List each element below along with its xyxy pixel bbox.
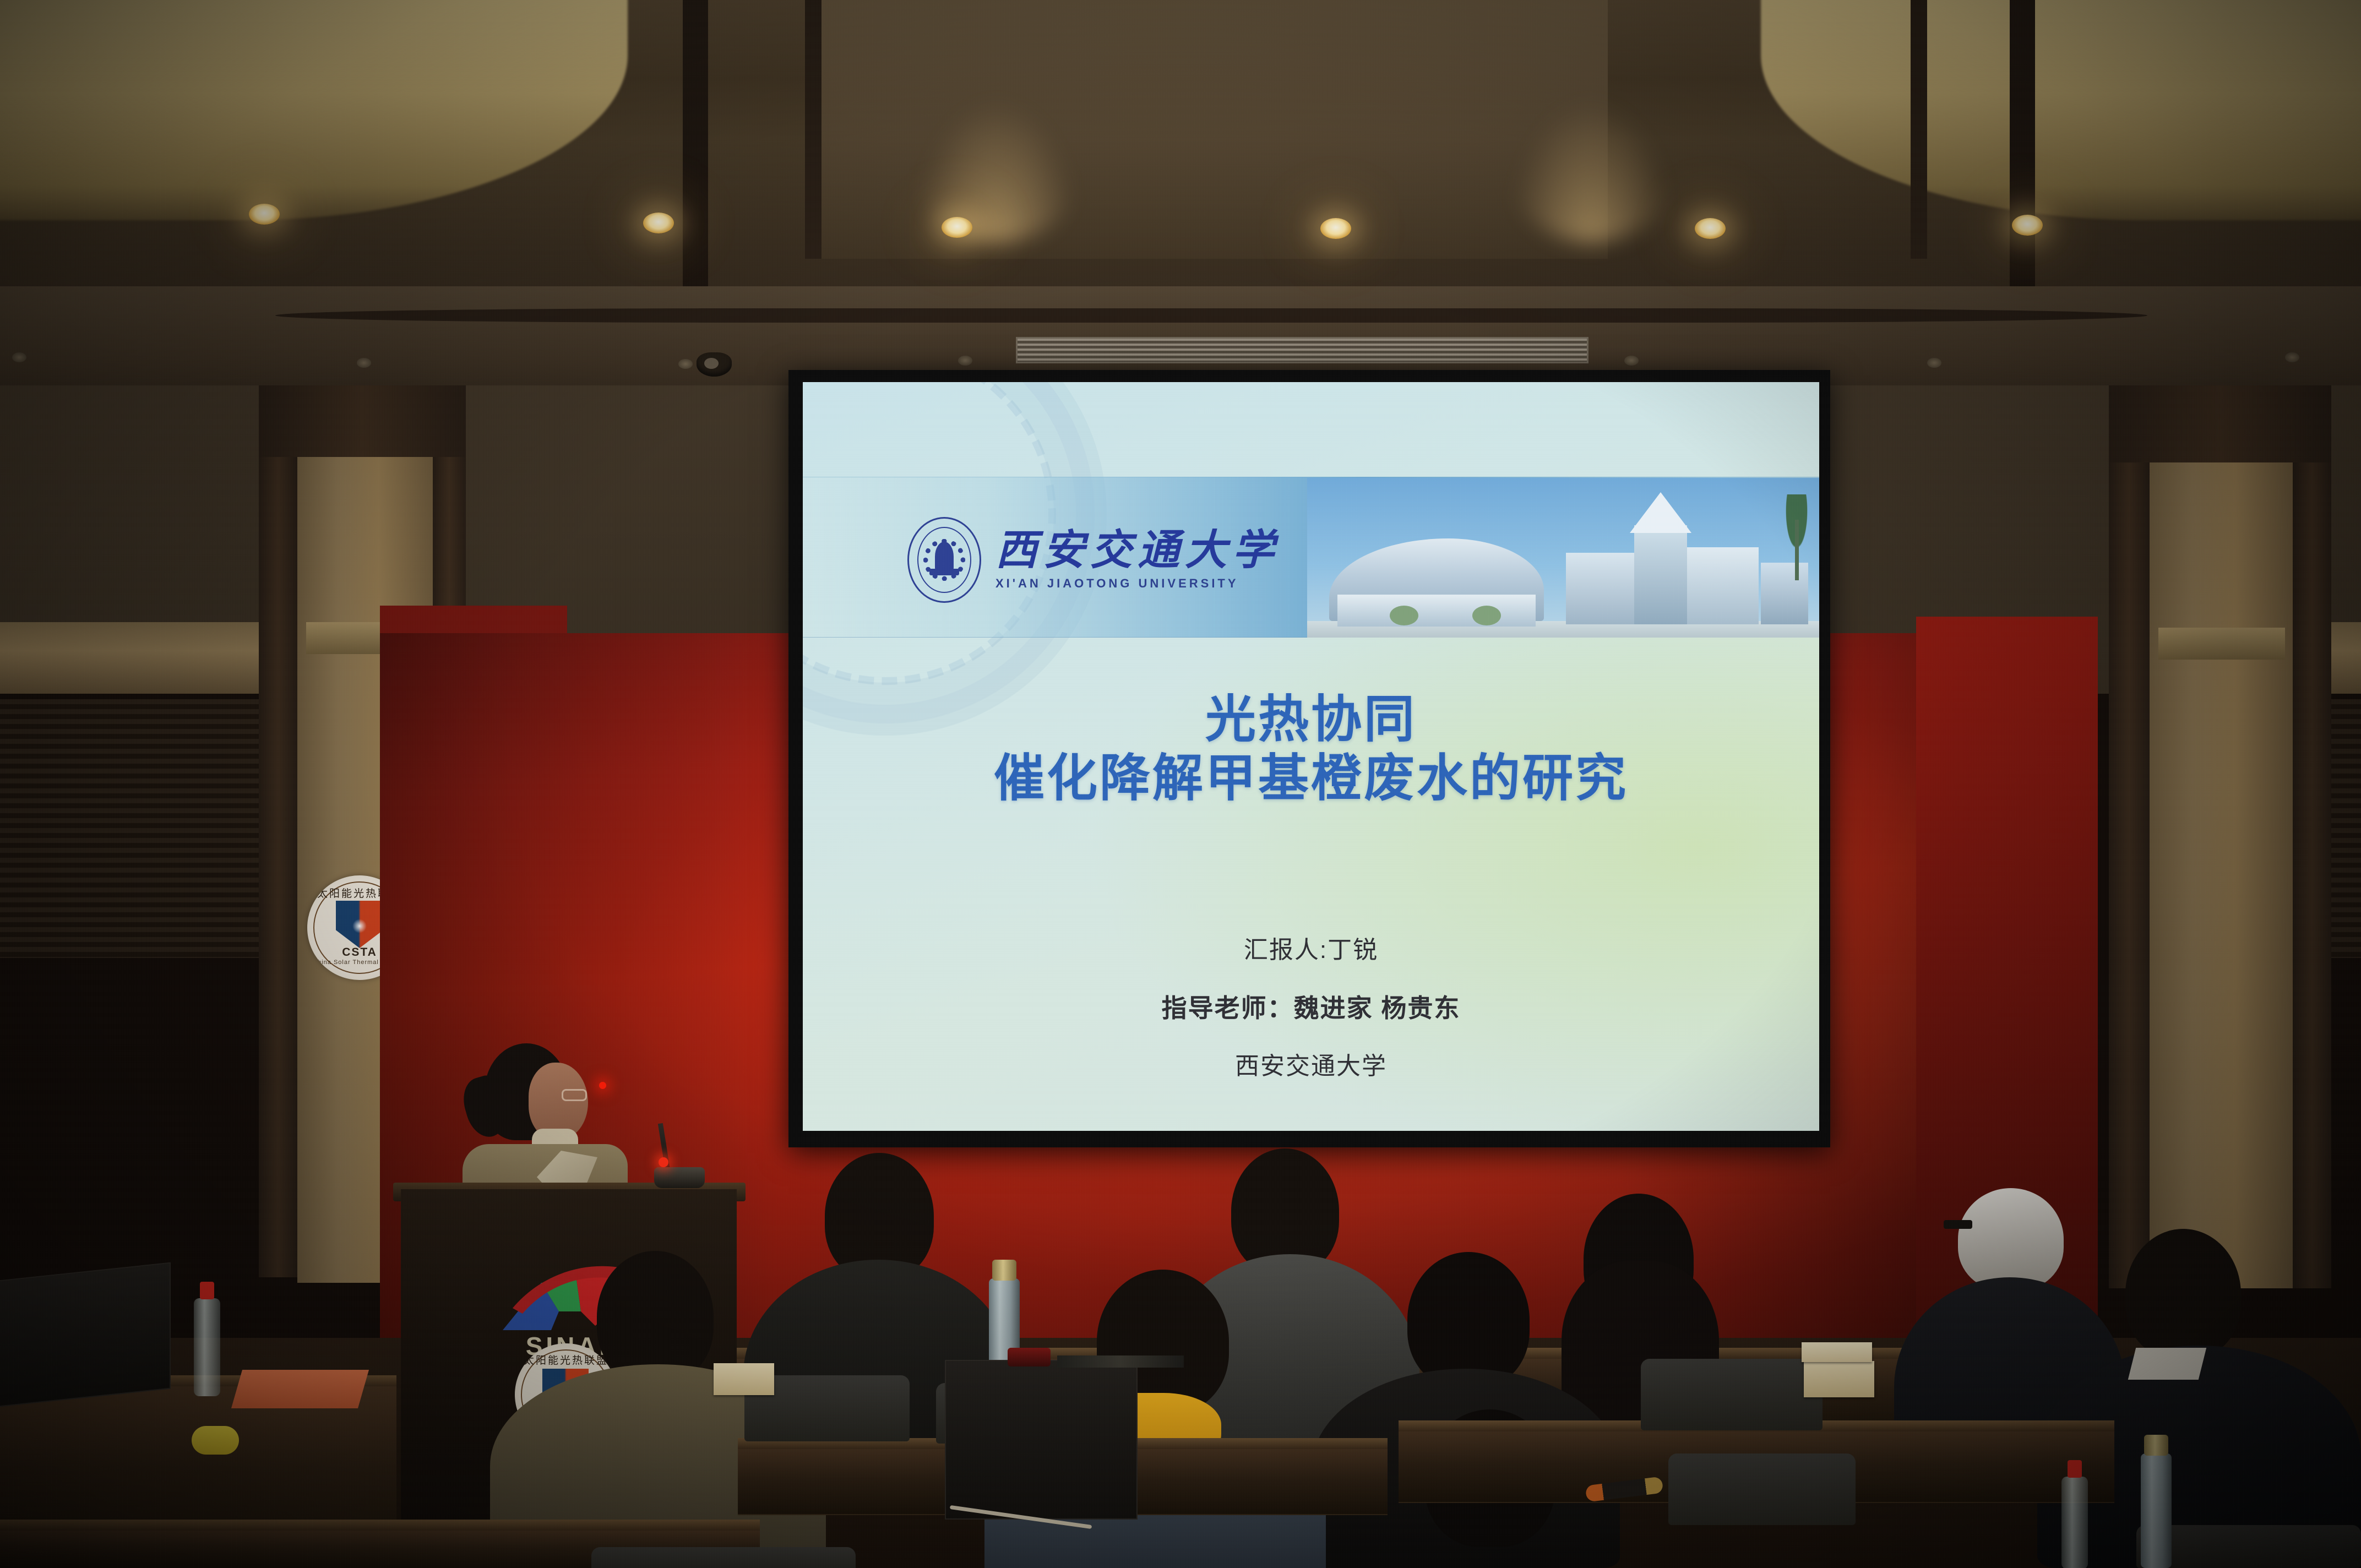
desk-row-front-top <box>0 1520 760 1532</box>
orange-paper-document <box>231 1370 369 1408</box>
name-card-placard-2 <box>1802 1342 1872 1362</box>
audience-head-4 <box>1407 1252 1530 1389</box>
balcony-rail-right <box>2331 622 2361 694</box>
campus-banner-image <box>1307 478 1819 638</box>
wall-louvre-right <box>2331 699 2361 958</box>
ceiling-cove-left <box>0 0 628 220</box>
slide-metadata: 汇报人:丁锐 指导老师：魏进家 杨贵东 西安交通大学 <box>803 922 1819 1095</box>
campus-block-b <box>1687 547 1759 624</box>
chair-5 <box>591 1547 856 1568</box>
chair-3 <box>1641 1359 1823 1430</box>
pillar-right <box>2150 462 2293 1288</box>
hvac-vent <box>1016 337 1588 363</box>
recessed-spot-2 <box>357 358 371 368</box>
yellow-item <box>192 1426 239 1455</box>
seal-bell-icon <box>935 542 954 571</box>
recessed-spot-6 <box>1624 356 1639 366</box>
slide-title-line-1: 光热协同 <box>803 690 1819 749</box>
pillar-header-right <box>2109 385 2331 462</box>
campus-dome-base <box>1337 595 1536 627</box>
slide-affiliation: 西安交通大学 <box>803 1038 1819 1095</box>
laptop-1 <box>945 1360 1138 1520</box>
water-bottle-1 <box>2061 1477 2088 1568</box>
recessed-spot-4 <box>958 356 972 366</box>
audience-head-6 <box>2125 1229 2241 1359</box>
downlight-2 <box>643 213 674 233</box>
name-card-placard-1 <box>1804 1361 1874 1397</box>
downlight-6 <box>2012 215 2043 236</box>
recessed-spot-7 <box>1927 358 1941 368</box>
presentation-slide: 西安交通大学 XI'AN JIAOTONG UNIVERSITY 光热协同 催化… <box>803 382 1819 1131</box>
projection-screen: 西安交通大学 XI'AN JIAOTONG UNIVERSITY 光热协同 催化… <box>788 370 1830 1147</box>
audience-head-5-white-hair <box>1958 1188 2064 1291</box>
university-name-english: XI'AN JIAOTONG UNIVERSITY <box>995 576 1280 591</box>
thermos-flask-2 <box>2141 1453 2172 1568</box>
ceiling-cove-right <box>1761 0 2361 220</box>
campus-tower-spire <box>1630 492 1691 533</box>
pillar-header-left <box>259 385 466 457</box>
downlight-3 <box>942 217 972 238</box>
campus-block-a <box>1566 553 1638 624</box>
ceiling-beam-4 <box>2010 0 2035 286</box>
recessed-spot-8 <box>2285 352 2299 362</box>
campus-shrub-1 <box>1390 606 1418 625</box>
ceiling-beam-1 <box>683 0 708 286</box>
name-card-placard-3 <box>714 1363 774 1395</box>
audience-5-glasses-icon <box>1944 1220 1972 1229</box>
audience-head-7 <box>597 1251 714 1383</box>
recessed-spot-1 <box>12 352 26 362</box>
water-bottle-2 <box>194 1298 220 1396</box>
university-logo: 西安交通大学 XI'AN JIAOTONG UNIVERSITY <box>907 517 1280 603</box>
ceiling-beam-3 <box>1911 0 1927 259</box>
ceiling-uplight-glow-right <box>1509 99 1674 242</box>
campus-palm-tree <box>1777 494 1816 577</box>
ceiling-beam-2 <box>805 0 822 259</box>
slide-title: 光热协同 催化降解甲基橙废水的研究 <box>803 690 1819 808</box>
university-name-chinese: 西安交通大学 <box>995 529 1280 571</box>
pillar-frame-right-inner <box>2293 385 2331 1288</box>
campus-tower <box>1634 525 1687 624</box>
audience-6-shirt-collar <box>2128 1348 2206 1380</box>
university-seal-icon <box>907 517 981 603</box>
downlight-5 <box>1695 218 1726 239</box>
slide-title-line-2: 催化降解甲基橙废水的研究 <box>803 749 1819 808</box>
downlight-1 <box>249 204 280 225</box>
presenter-face <box>529 1063 588 1140</box>
ceiling-trim-band <box>275 308 2147 323</box>
chair-4 <box>1668 1453 1856 1525</box>
conference-room-photo: 太阳能光热联盟 CSTA China Solar Thermal Allianc… <box>0 0 2361 1568</box>
ceiling-uplight-glow-left <box>914 99 1079 242</box>
podium-emblem-chinese: 太阳能光热联盟 <box>515 1352 617 1367</box>
microphone-led-indicator <box>659 1157 668 1167</box>
slide-advisors: 指导老师：魏进家 杨贵东 <box>803 978 1819 1038</box>
presenter-glasses-icon <box>562 1089 587 1101</box>
pillar-shelf-right <box>2158 628 2285 660</box>
security-camera-icon <box>697 352 732 377</box>
control-strip <box>1057 1355 1184 1368</box>
campus-shrub-2 <box>1472 606 1501 625</box>
university-name-block: 西安交通大学 XI'AN JIAOTONG UNIVERSITY <box>995 529 1280 591</box>
laser-pointer-dot <box>599 1082 606 1089</box>
red-device <box>1008 1348 1051 1366</box>
downlight-4 <box>1320 218 1351 239</box>
pillar-frame-left-outer <box>259 385 297 1277</box>
microphone-base <box>654 1167 705 1188</box>
recessed-spot-3 <box>678 359 693 369</box>
slide-presenter: 汇报人:丁锐 <box>803 922 1819 978</box>
laptop-2 <box>0 1262 171 1408</box>
pillar-frame-right-outer <box>2109 385 2150 1288</box>
